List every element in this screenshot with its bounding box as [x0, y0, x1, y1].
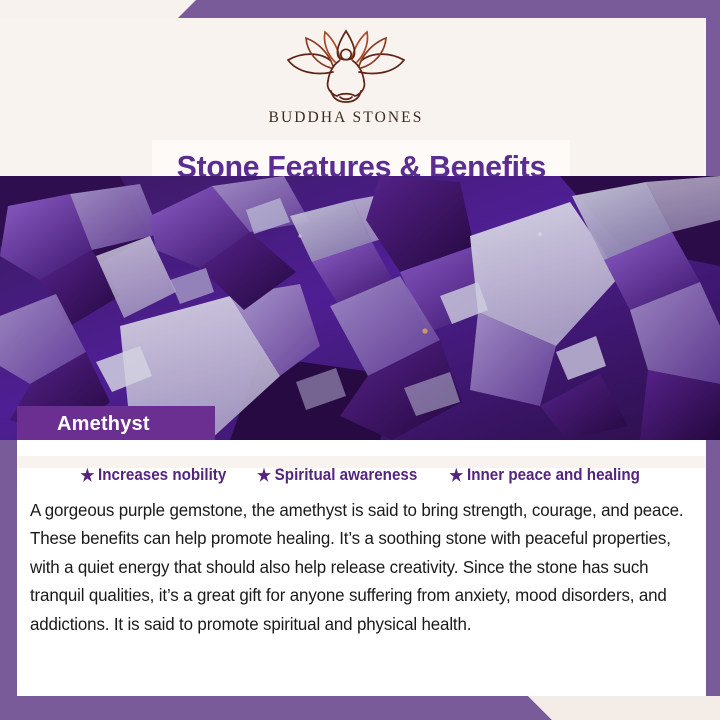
- benefit-item-2: ★ Inner peace and healing: [450, 466, 641, 485]
- lotus-meditation-icon: [271, 28, 421, 106]
- star-icon: ★: [257, 467, 271, 484]
- benefit-label: Inner peace and healing: [467, 466, 640, 485]
- benefit-label: Spiritual awareness: [275, 466, 418, 485]
- benefit-item-0: ★ Increases nobility: [81, 466, 227, 485]
- amethyst-hero-image: [0, 176, 720, 440]
- benefit-label: Increases nobility: [98, 466, 226, 485]
- frame-top-bar: [0, 0, 720, 18]
- stone-description: A gorgeous purple gemstone, the amethyst…: [30, 496, 686, 638]
- stone-content-panel: ★ Increases nobility ★ Spiritual awarene…: [17, 440, 706, 696]
- star-icon: ★: [450, 467, 464, 484]
- poster-header: BUDDHA STONES Stone Features & Benefits: [0, 18, 706, 176]
- star-icon: ★: [81, 467, 95, 484]
- benefit-item-1: ★ Spiritual awareness: [257, 466, 417, 485]
- benefits-row: ★ Increases nobility ★ Spiritual awarene…: [17, 466, 706, 485]
- stone-feature-poster: BUDDHA STONES Stone Features & Benefits: [0, 0, 720, 720]
- brand-logo: BUDDHA STONES: [0, 28, 692, 127]
- brand-name: BUDDHA STONES: [269, 109, 424, 127]
- stone-name: Amethyst: [17, 413, 150, 436]
- amethyst-crystal-cluster-icon: [0, 176, 720, 440]
- stone-name-banner: Amethyst: [17, 406, 215, 442]
